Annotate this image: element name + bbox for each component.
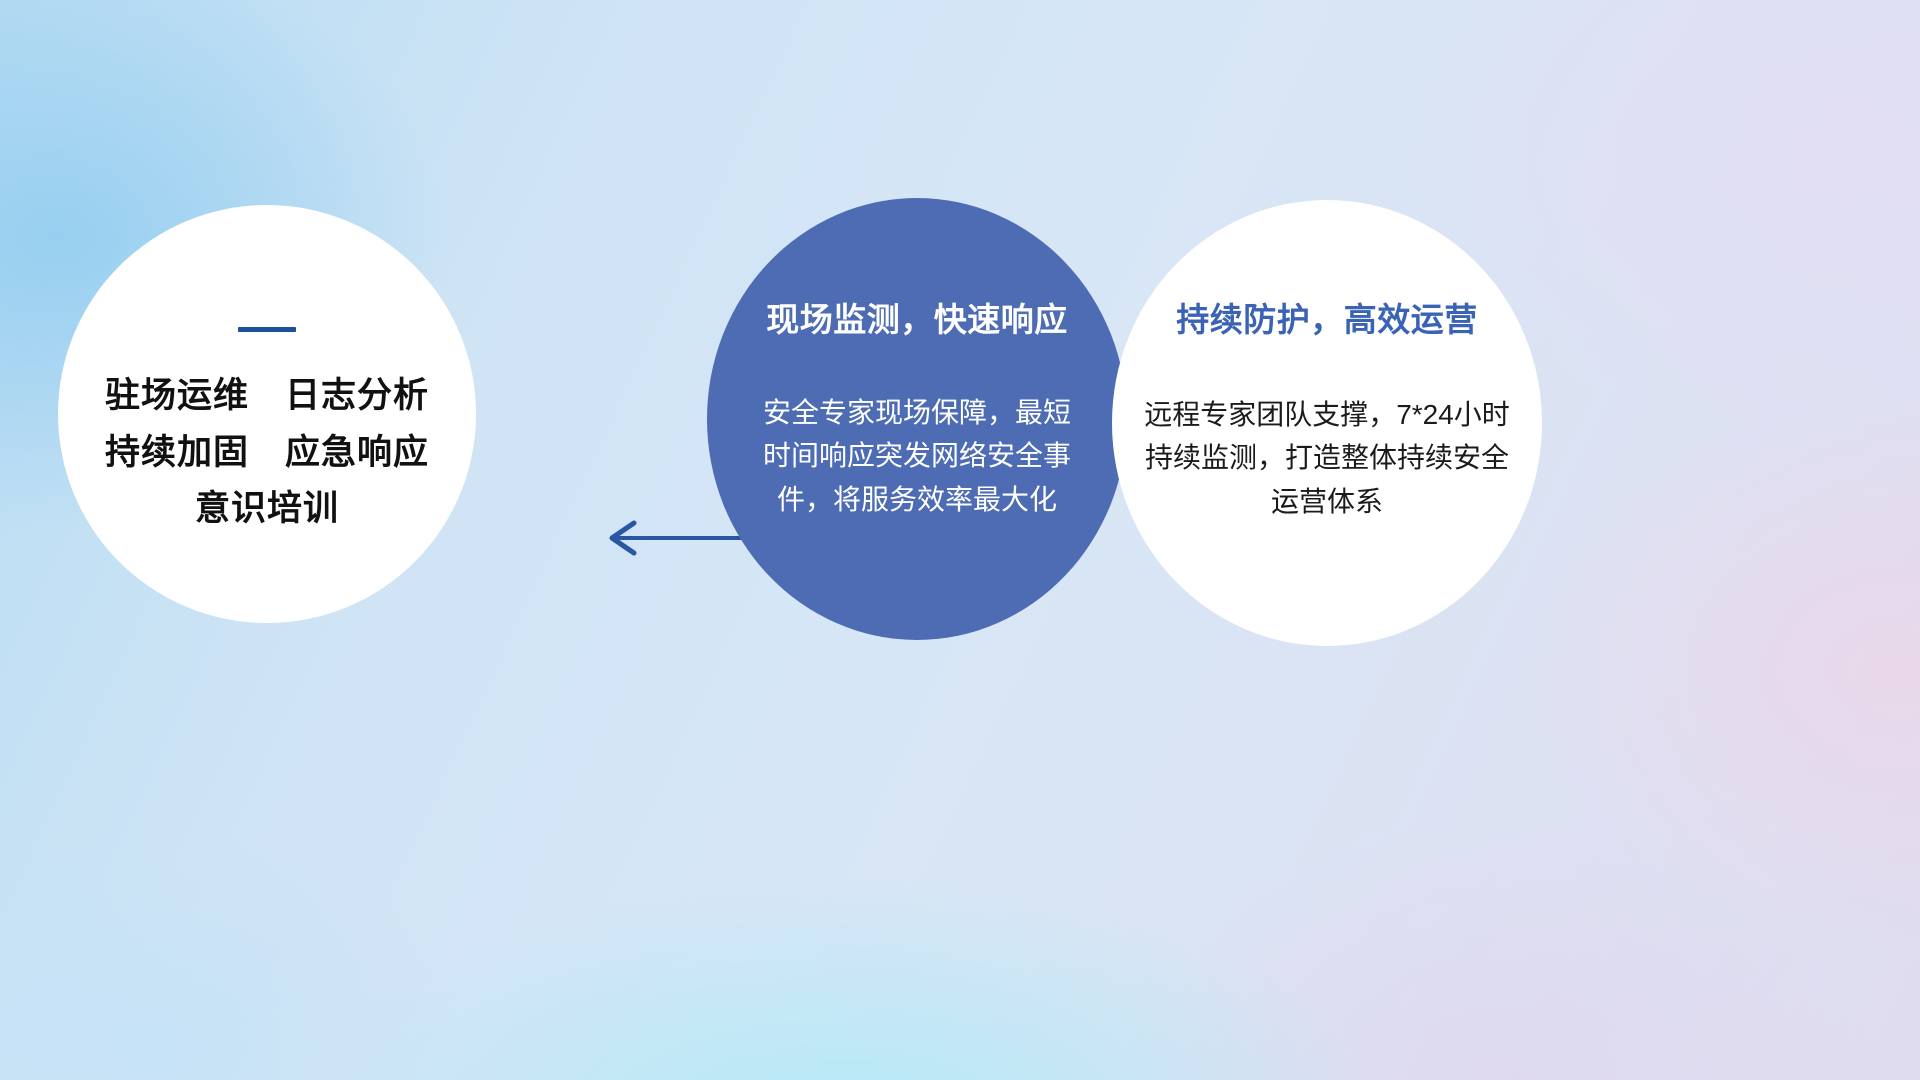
divider-dash-icon bbox=[238, 327, 296, 332]
left-capabilities-circle[interactable]: 驻场运维 日志分析 持续加固 应急响应 意识培训 bbox=[58, 205, 476, 623]
list-item: 意识培训 bbox=[105, 481, 429, 538]
middle-circle-body: 安全专家现场保障，最短时间响应突发网络安全事件，将服务效率最大化 bbox=[752, 391, 1082, 521]
slide-canvas: 驻场运维 日志分析 持续加固 应急响应 意识培训 现场监测，快速响应 安全专家现… bbox=[0, 0, 1920, 1080]
left-keyword-list: 驻场运维 日志分析 持续加固 应急响应 意识培训 bbox=[105, 368, 429, 538]
right-circle-title: 持续防护，高效运营 bbox=[1176, 293, 1478, 341]
right-operations-circle[interactable]: 持续防护，高效运营 远程专家团队支撑，7*24小时持续监测，打造整体持续安全运营… bbox=[1112, 200, 1542, 646]
right-circle-body: 远程专家团队支撑，7*24小时持续监测，打造整体持续安全运营体系 bbox=[1141, 393, 1513, 523]
middle-circle-title: 现场监测，快速响应 bbox=[766, 293, 1068, 341]
list-item: 持续加固 应急响应 bbox=[105, 425, 429, 482]
middle-onsite-circle[interactable]: 现场监测，快速响应 安全专家现场保障，最短时间响应突发网络安全事件，将服务效率最… bbox=[707, 198, 1127, 640]
list-item: 驻场运维 日志分析 bbox=[105, 368, 429, 425]
